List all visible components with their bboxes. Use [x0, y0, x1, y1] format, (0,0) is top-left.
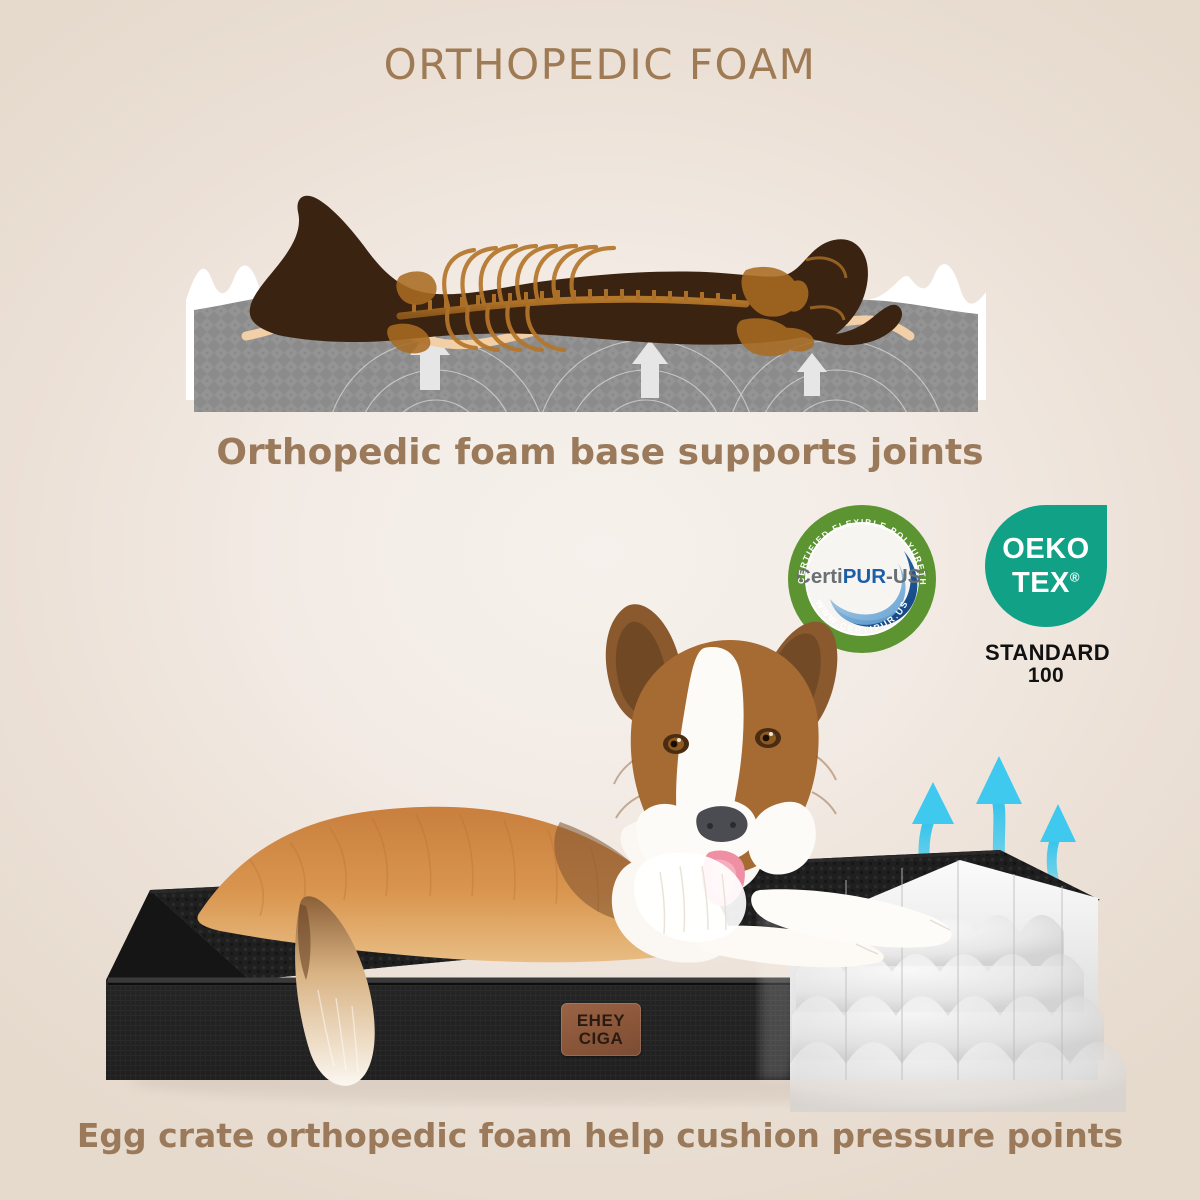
product-infographic: ORTHOPEDIC FOAM — [0, 0, 1200, 1200]
page-title: ORTHOPEDIC FOAM — [0, 40, 1200, 89]
dog-silhouette-with-skeleton — [250, 196, 902, 357]
brand-tag-line1: EHEY — [577, 1012, 625, 1029]
top-caption: Orthopedic foam base supports joints — [0, 432, 1200, 473]
dog-nose — [696, 806, 747, 842]
brand-tag-line2: CIGA — [579, 1030, 624, 1047]
orthopedic-support-diagram — [186, 150, 986, 426]
bottom-caption: Egg crate orthopedic foam help cushion p… — [0, 1116, 1200, 1155]
brand-tag: EHEY CIGA — [561, 1003, 641, 1056]
